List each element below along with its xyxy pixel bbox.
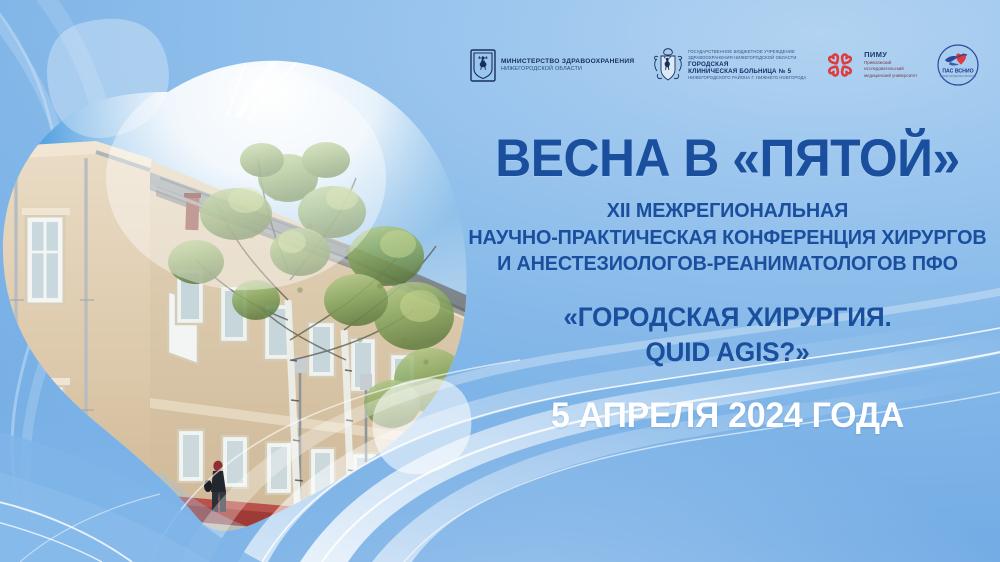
conference-poster: МИНИСТЕРСТВО ЗДРАВООХРАНЕНИЯ НИЖЕГОРОДСК… — [0, 0, 1000, 562]
poster-subtitle: XII МЕЖРЕГИОНАЛЬНАЯ НАУЧНО-ПРАКТИЧЕСКАЯ … — [465, 198, 991, 278]
nizhny-novgorod-coat-of-arms-icon — [653, 46, 683, 84]
logo2-line3: ГОРОДСКАЯ — [688, 61, 806, 68]
logo2-line5: НИЖЕГОРОДСКОГО РАЙОНА Г. НИЖНЕГО НОВГОРО… — [688, 75, 806, 81]
interlocking-hearts-icon — [825, 50, 859, 80]
deer-coat-of-arms-icon — [470, 49, 496, 82]
logo2-line4: КЛИНИЧЕСКАЯ БОЛЬНИЦА № 5 — [688, 68, 806, 75]
subtitle-line-1: XII МЕЖРЕГИОНАЛЬНАЯ — [465, 198, 991, 225]
logo2-line1: ГОСУДАРСТВЕННОЕ БЮДЖЕТНОЕ УЧРЕЖДЕНИЕ — [688, 49, 806, 55]
theme-line-2: QUID AGIS?» — [463, 335, 992, 370]
subtitle-line-2: НАУЧНО-ПРАКТИЧЕСКАЯ КОНФЕРЕНЦИЯ ХИРУРГОВ — [465, 225, 991, 252]
logo2-line2: ЗДРАВООХРАНЕНИЯ НИЖЕГОРОДСКОЙ ОБЛАСТИ — [688, 55, 806, 61]
logo1-line2: НИЖЕГОРОДСКОЙ ОБЛАСТИ — [501, 66, 634, 72]
bird-heart-circle-icon: ПАС ВСНИО НИЖЕГОРОДСКАЯ ОБЛАСТЬ — [936, 43, 980, 87]
logo4-region: НИЖЕГОРОДСКАЯ ОБЛАСТЬ — [940, 74, 977, 78]
logo-city-clinical-hospital-5: ГОСУДАРСТВЕННОЕ БЮДЖЕТНОЕ УЧРЕЖДЕНИЕ ЗДР… — [653, 46, 806, 84]
logo-ministry-of-health: МИНИСТЕРСТВО ЗДРАВООХРАНЕНИЯ НИЖЕГОРОДСК… — [470, 49, 634, 82]
page-title: ВЕСНА В «ПЯТОЙ» — [471, 132, 983, 186]
poster-theme: «ГОРОДСКАЯ ХИРУРГИЯ. QUID AGIS?» — [463, 300, 992, 370]
logo-pimu: ПИМУ Приволжский исследовательский медиц… — [825, 50, 917, 80]
partner-logos-row: МИНИСТЕРСТВО ЗДРАВООХРАНЕНИЯ НИЖЕГОРОДСК… — [470, 36, 980, 94]
logo3-line4: медицинский университет — [864, 73, 917, 80]
poster-date: 5 АПРЕЛЯ 2024 ГОДА — [463, 396, 992, 436]
poster-copy-block: ВЕСНА В «ПЯТОЙ» XII МЕЖРЕГИОНАЛЬНАЯ НАУЧ… — [455, 132, 1000, 436]
logo-pas-vsnio: ПАС ВСНИО НИЖЕГОРОДСКАЯ ОБЛАСТЬ — [936, 43, 980, 87]
logo3-line1: ПИМУ — [864, 51, 917, 60]
logo4-abbr: ПАС ВСНИО — [942, 69, 973, 75]
logo1-line1: МИНИСТЕРСТВО ЗДРАВООХРАНЕНИЯ — [501, 58, 634, 66]
logo3-line3: исследовательский — [864, 66, 917, 73]
theme-line-1: «ГОРОДСКАЯ ХИРУРГИЯ. — [463, 300, 992, 335]
subtitle-line-3: И АНЕСТЕЗИОЛОГОВ-РЕАНИМАТОЛОГОВ ПФО — [465, 251, 991, 278]
logo3-line2: Приволжский — [864, 60, 917, 67]
